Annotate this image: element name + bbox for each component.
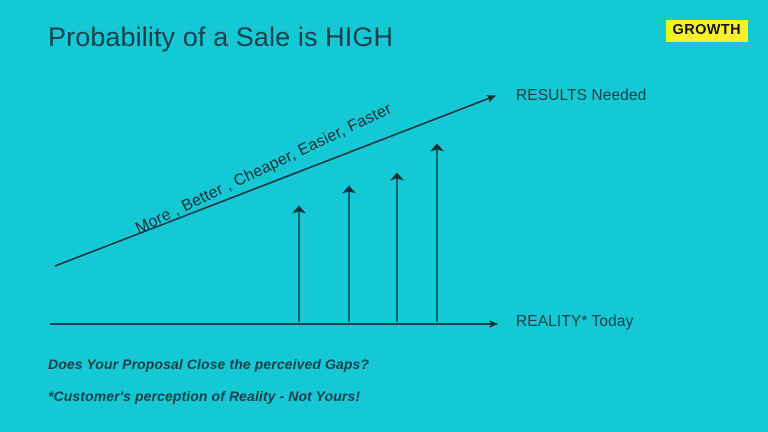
footnote-asterisk-note: *Customer's perception of Reality - Not … [48, 388, 360, 404]
trend-axis-arrow [55, 96, 495, 266]
results-needed-label: RESULTS Needed [516, 87, 646, 105]
slide-canvas: Probability of a Sale is HIGH GROWTH Mor… [0, 0, 768, 432]
footnote-question: Does Your Proposal Close the perceived G… [48, 356, 369, 372]
reality-today-label: REALITY* Today [516, 313, 633, 331]
